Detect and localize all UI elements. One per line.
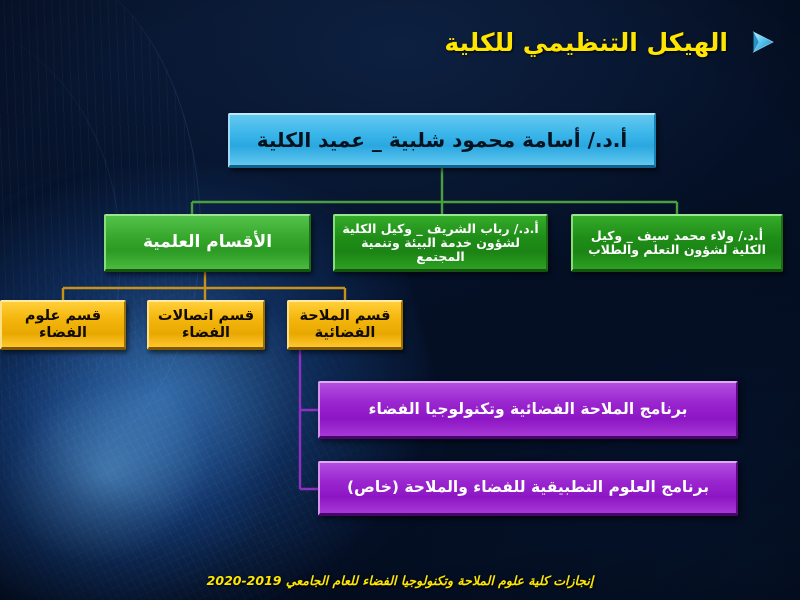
org-node-dept-communications[interactable]: قسم اتصالات الفضاء — [147, 300, 265, 350]
org-node-vice-education-label: أ.د./ ولاء محمد سيف _ وكيل الكلية لشؤون … — [573, 229, 781, 257]
org-node-dept-space-science[interactable]: قسم علوم الفضاء — [0, 300, 126, 350]
org-node-program-applied-sciences-label: برنامج العلوم التطبيقية للفضاء والملاحة … — [341, 479, 715, 496]
org-node-dean[interactable]: أ.د./ أسامة محمود شلبية _ عميد الكلية — [228, 113, 656, 168]
org-node-program-navigation-tech[interactable]: برنامج الملاحة الفضائية وتكنولوجيا الفضا… — [318, 381, 738, 439]
page-title: الهيكل التنظيمي للكلية — [444, 28, 728, 57]
org-node-dept-space-science-label: قسم علوم الفضاء — [2, 308, 124, 340]
org-node-dean-label: أ.د./ أسامة محمود شلبية _ عميد الكلية — [251, 129, 633, 151]
org-node-dept-navigation-label: قسم الملاحة الفضائية — [289, 308, 401, 340]
slide-footer: إنجازات كلية علوم الملاحة وتكنولوجيا الف… — [0, 573, 800, 588]
org-node-vice-community[interactable]: أ.د./ رباب الشريف _ وكيل الكلية لشؤون خد… — [333, 214, 548, 272]
org-node-vice-education[interactable]: أ.د./ ولاء محمد سيف _ وكيل الكلية لشؤون … — [571, 214, 783, 272]
org-node-program-applied-sciences[interactable]: برنامج العلوم التطبيقية للفضاء والملاحة … — [318, 461, 738, 516]
arrow-right-icon — [750, 29, 776, 55]
title-row: الهيكل التنظيمي للكلية — [300, 18, 776, 66]
org-node-dept-navigation[interactable]: قسم الملاحة الفضائية — [287, 300, 403, 350]
org-node-vice-community-label: أ.د./ رباب الشريف _ وكيل الكلية لشؤون خد… — [335, 222, 546, 264]
org-node-program-navigation-tech-label: برنامج الملاحة الفضائية وتكنولوجيا الفضا… — [363, 401, 694, 418]
org-node-dept-communications-label: قسم اتصالات الفضاء — [149, 308, 263, 340]
org-node-departments[interactable]: الأقسام العلمية — [104, 214, 311, 272]
org-node-departments-label: الأقسام العلمية — [137, 233, 278, 252]
slide-canvas: الهيكل التنظيمي للكلية أ.د./ أسامة محمود — [0, 0, 800, 600]
